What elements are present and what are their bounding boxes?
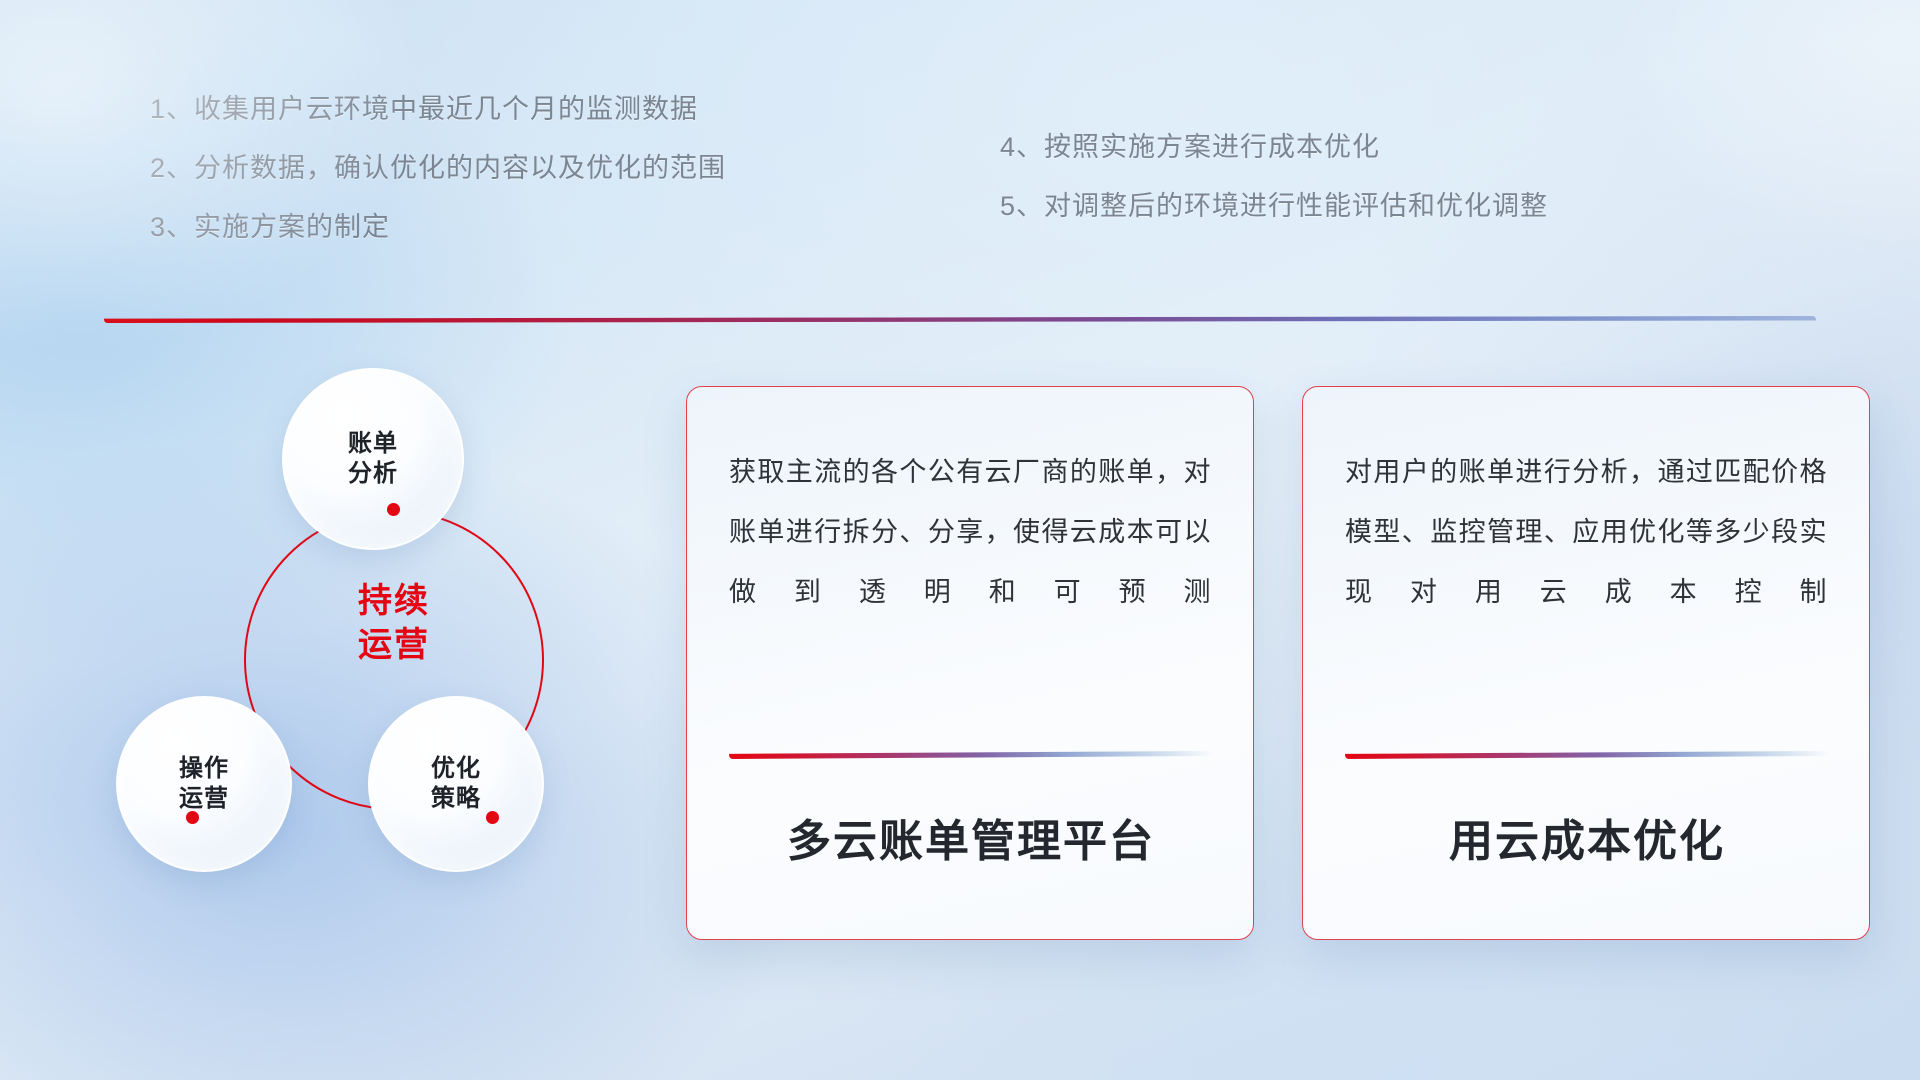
venn-bubble-optimization-strategy[interactable]: 优化 策略 — [368, 696, 544, 872]
step-item: 4、按照实施方案进行成本优化 — [1000, 134, 1548, 161]
venn-bubble-billing-analysis[interactable]: 账单 分析 — [282, 368, 464, 550]
step-item: 3、实施方案的制定 — [150, 214, 726, 241]
section-divider — [104, 316, 1816, 323]
step-item: 2、分析数据，确认优化的内容以及优化的范围 — [150, 155, 726, 182]
connector-dot-icon — [387, 503, 400, 516]
venn-bubble-label-line1: 操作 — [179, 754, 229, 784]
step-item: 5、对调整后的环境进行性能评估和优化调整 — [1000, 193, 1548, 220]
steps-column-right: 4、按照实施方案进行成本优化 5、对调整后的环境进行性能评估和优化调整 — [1000, 134, 1548, 252]
connector-dot-icon — [486, 811, 499, 824]
venn-bubble-label-line1: 账单 — [348, 429, 398, 459]
steps-column-left: 1、收集用户云环境中最近几个月的监测数据 2、分析数据，确认优化的内容以及优化的… — [150, 96, 726, 273]
venn-bubble-label-line2: 运营 — [179, 784, 229, 814]
venn-diagram: 持续 运营 账单 分析 操作 运营 优化 策略 — [96, 350, 616, 930]
feature-card-multicloud-billing[interactable]: 获取主流的各个公有云厂商的账单，对账单进行拆分、分享，使得云成本可以做到透明和可… — [686, 386, 1254, 940]
venn-center-label-line2: 运营 — [244, 624, 544, 668]
card-divider — [729, 751, 1213, 759]
card-title: 用云成本优化 — [1345, 805, 1829, 869]
venn-bubble-label-line2: 分析 — [348, 459, 398, 489]
venn-bubble-label: 操作 运营 — [179, 754, 229, 814]
venn-bubble-label-line1: 优化 — [431, 754, 481, 784]
venn-center-label-line1: 持续 — [244, 580, 544, 624]
venn-center-label: 持续 运营 — [244, 580, 544, 667]
card-body-text: 获取主流的各个公有云厂商的账单，对账单进行拆分、分享，使得云成本可以做到透明和可… — [729, 443, 1211, 623]
venn-bubble-label-line2: 策略 — [431, 784, 481, 814]
card-divider — [1345, 751, 1829, 759]
feature-card-cost-optimization[interactable]: 对用户的账单进行分析，通过匹配价格模型、监控管理、应用优化等多少段实现对用云成本… — [1302, 386, 1870, 940]
slide-canvas: 1、收集用户云环境中最近几个月的监测数据 2、分析数据，确认优化的内容以及优化的… — [0, 0, 1920, 1080]
card-body-text: 对用户的账单进行分析，通过匹配价格模型、监控管理、应用优化等多少段实现对用云成本… — [1345, 443, 1827, 623]
venn-bubble-operations[interactable]: 操作 运营 — [116, 696, 292, 872]
card-title: 多云账单管理平台 — [729, 805, 1213, 869]
venn-bubble-label: 账单 分析 — [348, 429, 398, 489]
connector-dot-icon — [186, 811, 199, 824]
step-item: 1、收集用户云环境中最近几个月的监测数据 — [150, 96, 726, 123]
venn-bubble-label: 优化 策略 — [431, 754, 481, 814]
